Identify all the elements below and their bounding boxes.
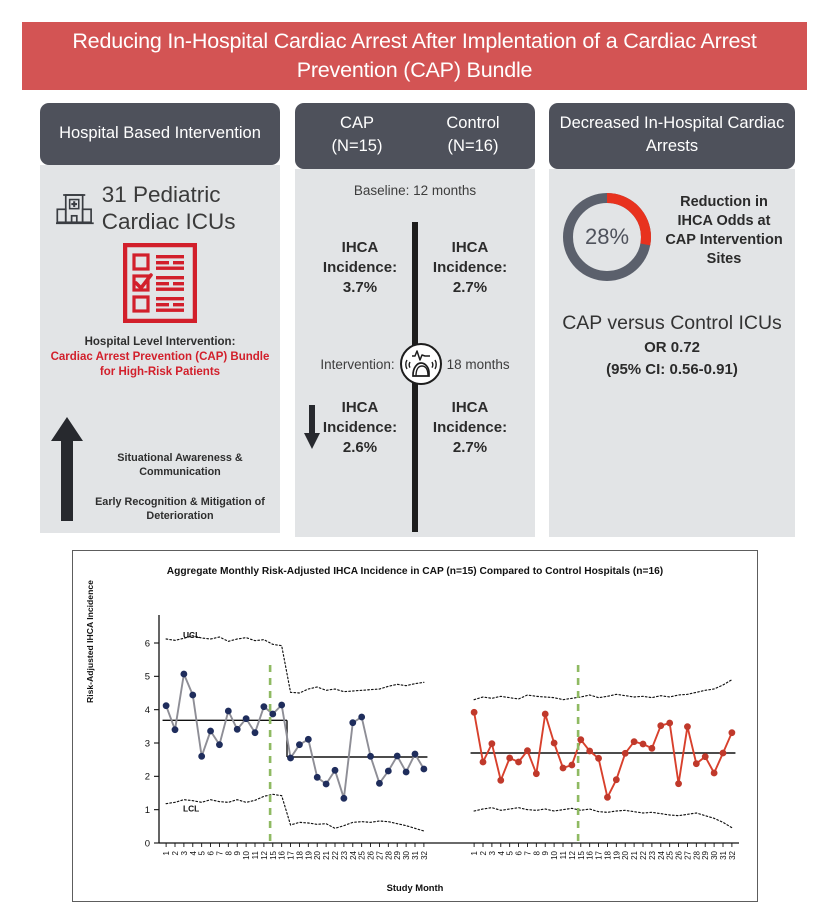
panel2-header-control: Control (N=16) [417,112,529,158]
panel1-bottom: Situational Awareness & Communication Ea… [50,415,270,523]
svg-text:2: 2 [479,850,488,855]
svg-text:23: 23 [340,850,349,859]
svg-text:16: 16 [278,850,287,859]
donut-caption: Reduction in IHCA Odds at CAP Interventi… [663,189,785,269]
svg-text:8: 8 [224,850,233,855]
svg-text:18: 18 [295,850,304,859]
panel1-body: 31 Pediatric Cardiac ICUs [40,165,280,533]
svg-text:5: 5 [506,850,515,855]
svg-text:1: 1 [145,805,150,816]
svg-text:27: 27 [375,850,384,859]
panel-decreased-arrests: Decreased In-Hospital Cardiac Arrests 28… [549,103,795,533]
svg-text:24: 24 [657,850,666,859]
svg-text:6: 6 [515,850,524,855]
svg-text:24: 24 [349,850,358,859]
svg-text:15: 15 [577,850,586,859]
intervention-duration: 18 months [447,357,510,372]
svg-text:26: 26 [367,850,376,859]
panel3-body: 28% Reduction in IHCA Odds at CAP Interv… [549,169,795,537]
svg-text:31: 31 [411,850,420,859]
svg-text:5: 5 [145,672,150,683]
baseline-values-row: IHCA Incidence: 3.7% IHCA Incidence: 2.7… [305,238,525,298]
svg-text:1: 1 [162,850,171,855]
panel1-caption-lead: Hospital Level Intervention: [50,335,270,350]
svg-text:21: 21 [322,850,331,859]
svg-text:18: 18 [603,850,612,859]
up-arrow-icon [50,415,84,523]
panel2-header: CAP (N=15) Control (N=16) [295,103,535,169]
svg-text:17: 17 [595,850,604,859]
chart-x-axis-label: Study Month [73,882,757,893]
chart-plot-area: 0123456123456789101112151617181920212223… [73,551,759,903]
svg-text:28: 28 [692,850,701,859]
svg-text:0: 0 [145,838,150,849]
baseline-cap-value: IHCA Incidence: 3.7% [305,238,415,298]
svg-text:2: 2 [145,772,150,783]
title-banner: Reducing In-Hospital Cardiac Arrest Afte… [22,22,807,90]
panel2-timeline: IHCA Incidence: 3.7% IHCA Incidence: 2.7… [305,202,525,532]
donut-chart: 28% [559,189,655,285]
svg-text:23: 23 [648,850,657,859]
cpr-hands-icon [399,342,443,386]
svg-text:4: 4 [497,850,506,855]
svg-text:6: 6 [207,850,216,855]
svg-text:4: 4 [145,705,150,716]
hospital-icon [56,182,94,234]
svg-text:LCL: LCL [183,804,199,814]
panel2-header-cap-line1: CAP [301,112,413,135]
panel-cap-vs-control: CAP (N=15) Control (N=16) Baseline: 12 m… [295,103,535,533]
post-control-col: IHCA Incidence: 2.7% [415,398,525,458]
panel3-top: 28% Reduction in IHCA Odds at CAP Interv… [559,189,785,285]
svg-text:12: 12 [568,850,577,859]
svg-text:9: 9 [233,850,242,855]
svg-text:22: 22 [639,850,648,859]
panel2-header-control-line1: Control [417,112,529,135]
svg-text:3: 3 [488,850,497,855]
baseline-label: Baseline: 12 months [305,183,525,198]
svg-text:9: 9 [541,850,550,855]
hospital-count-text: 31 Pediatric Cardiac ICUs [102,181,270,235]
panel2-header-cap-line2: (N=15) [301,135,413,158]
svg-text:28: 28 [384,850,393,859]
panel1-header: Hospital Based Intervention [40,103,280,165]
down-arrow-icon [303,404,321,450]
panel1-bullets: Situational Awareness & Communication Ea… [90,451,270,523]
odds-ratio: OR 0.72 [559,338,785,358]
panel1-caption: Hospital Level Intervention: Cardiac Arr… [50,335,270,380]
svg-text:20: 20 [313,850,322,859]
intervention-label: Intervention: [320,357,394,372]
svg-text:30: 30 [710,850,719,859]
svg-text:20: 20 [621,850,630,859]
checklist-wrap [50,243,270,323]
post-cap-value: IHCA Incidence: 2.6% [323,399,397,456]
svg-text:8: 8 [532,850,541,855]
panel-hospital-based-intervention: Hospital Based Intervention [40,103,280,533]
panel2-header-cap: CAP (N=15) [301,112,413,158]
svg-text:19: 19 [304,850,313,859]
svg-text:31: 31 [719,850,728,859]
svg-text:25: 25 [358,850,367,859]
svg-text:2: 2 [171,850,180,855]
infographic-page: Reducing In-Hospital Cardiac Arrest Afte… [0,0,829,913]
panel3-bottom: CAP versus Control ICUs OR 0.72 (95% CI:… [559,311,785,380]
post-control-value: IHCA Incidence: 2.7% [433,399,507,456]
svg-text:11: 11 [251,850,260,859]
svg-text:27: 27 [683,850,692,859]
post-cap-col: IHCA Incidence: 2.6% [305,398,415,458]
panels-row: Hospital Based Intervention [40,103,795,533]
page-title: Reducing In-Hospital Cardiac Arrest Afte… [22,27,807,85]
panel2-body: Baseline: 12 months IHCA Incidence: 3.7%… [295,169,535,537]
panel1-bullet-2: Early Recognition & Mitigation of Deteri… [90,495,270,523]
svg-text:11: 11 [559,850,568,859]
confidence-interval: (95% CI: 0.56-0.91) [559,360,785,380]
intervention-row: Intervention: 18 months [305,342,525,386]
panel1-bullet-1: Situational Awareness & Communication [90,451,270,479]
svg-text:3: 3 [145,738,150,749]
svg-text:7: 7 [215,850,224,855]
panel3-header: Decreased In-Hospital Cardiac Arrests [549,103,795,169]
hospital-count-row: 31 Pediatric Cardiac ICUs [50,181,270,235]
svg-text:30: 30 [402,850,411,859]
svg-text:3: 3 [180,850,189,855]
svg-text:15: 15 [269,850,278,859]
svg-text:26: 26 [675,850,684,859]
svg-text:19: 19 [612,850,621,859]
baseline-control-value: IHCA Incidence: 2.7% [415,238,525,298]
comparison-title: CAP versus Control ICUs [559,311,785,336]
svg-text:25: 25 [666,850,675,859]
svg-text:17: 17 [287,850,296,859]
checklist-icon [123,243,197,323]
svg-text:29: 29 [393,850,402,859]
svg-text:10: 10 [242,850,251,859]
svg-text:32: 32 [728,850,737,859]
svg-text:UCL: UCL [183,630,200,640]
svg-text:12: 12 [260,850,269,859]
control-chart-frame: Aggregate Monthly Risk-Adjusted IHCA Inc… [72,550,758,902]
svg-text:5: 5 [198,850,207,855]
donut-value-label: 28% [559,189,655,285]
svg-text:16: 16 [586,850,595,859]
up-arrow-wrap [50,415,84,523]
svg-text:7: 7 [523,850,532,855]
svg-text:6: 6 [145,638,150,649]
svg-text:1: 1 [470,850,479,855]
svg-text:10: 10 [550,850,559,859]
svg-text:32: 32 [420,850,429,859]
svg-text:22: 22 [331,850,340,859]
svg-text:4: 4 [189,850,198,855]
panel2-header-control-line2: (N=16) [417,135,529,158]
post-values-row: IHCA Incidence: 2.6% IHCA Incidence: 2.7… [305,398,525,458]
panel1-caption-red: Cardiac Arrest Prevention (CAP) Bundle f… [50,350,270,380]
svg-text:21: 21 [630,850,639,859]
svg-text:29: 29 [701,850,710,859]
